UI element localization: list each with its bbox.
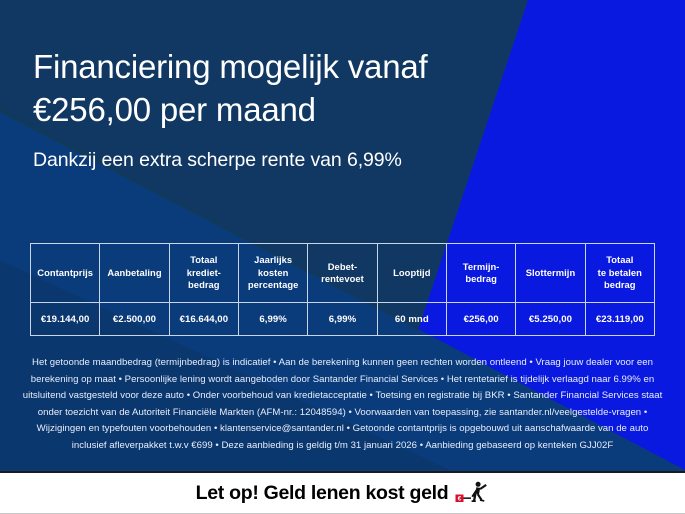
cell-looptijd: 60 mnd: [377, 303, 446, 336]
header-line-2: kosten: [241, 267, 305, 279]
header-line-1: Looptijd: [380, 267, 444, 279]
cell-aanbetaling: €2.500,00: [100, 303, 169, 336]
page-title: Financiering mogelijk vanaf €256,00 per …: [33, 46, 633, 131]
table-header-totaal-kredietbedrag: Totaal krediet- bedrag: [169, 244, 238, 303]
header-line-2: te betalen: [588, 267, 652, 279]
header-line-1: Termijn-: [449, 261, 513, 273]
header-line-3: percentage: [241, 279, 305, 291]
financing-details-table: Contantprijs Aanbetaling Totaal krediet-…: [30, 243, 655, 336]
svg-text:€: €: [458, 496, 462, 503]
financing-promo-banner: Financiering mogelijk vanaf €256,00 per …: [0, 0, 685, 514]
header-line-3: bedrag: [588, 279, 652, 291]
header-line-1: Totaal: [588, 254, 652, 266]
table-header-slottermijn: Slottermijn: [516, 244, 585, 303]
cell-jaarlijks-kosten-percentage: 6,99%: [238, 303, 307, 336]
warning-banner-label: Let op! Geld lenen kost geld: [196, 482, 449, 505]
cell-totaal-te-betalen-bedrag: €23.119,00: [585, 303, 654, 336]
table-header-looptijd: Looptijd: [377, 244, 446, 303]
warning-banner-inner: Let op! Geld lenen kost geld €: [196, 481, 490, 505]
table-header-totaal-te-betalen-bedrag: Totaal te betalen bedrag: [585, 244, 654, 303]
header-line-1: Totaal: [172, 254, 236, 266]
disclaimer-text: Het getoonde maandbedrag (termijnbedrag)…: [20, 355, 665, 454]
warning-banner: Let op! Geld lenen kost geld €: [0, 471, 685, 514]
header-line-2: bedrag: [449, 273, 513, 285]
walking-person-dragging-euro-block-icon: €: [455, 481, 489, 505]
header-line-2: rentevoet: [310, 273, 374, 285]
header-line-1: Slottermijn: [518, 267, 582, 279]
table-header-aanbetaling: Aanbetaling: [100, 244, 169, 303]
table-header-debetrentevoet: Debet- rentevoet: [308, 244, 377, 303]
header-line-1: Contantprijs: [33, 267, 97, 279]
table-header-jaarlijks-kosten-percentage: Jaarlijks kosten percentage: [238, 244, 307, 303]
cell-termijnbedrag: €256,00: [446, 303, 515, 336]
header-line-1: Aanbetaling: [102, 267, 166, 279]
cell-debetrentevoet: 6,99%: [308, 303, 377, 336]
cell-contantprijs: €19.144,00: [31, 303, 100, 336]
header-line-1: Debet-: [310, 261, 374, 273]
table-body: €19.144,00 €2.500,00 €16.644,00 6,99% 6,…: [31, 303, 655, 336]
table-row: €19.144,00 €2.500,00 €16.644,00 6,99% 6,…: [31, 303, 655, 336]
table-header-row: Contantprijs Aanbetaling Totaal krediet-…: [31, 244, 655, 303]
table-header-contantprijs: Contantprijs: [31, 244, 100, 303]
cell-totaal-kredietbedrag: €16.644,00: [169, 303, 238, 336]
table-header-row-group: Contantprijs Aanbetaling Totaal krediet-…: [31, 244, 655, 303]
header-line-2: krediet-: [172, 267, 236, 279]
content-layer: Financiering mogelijk vanaf €256,00 per …: [0, 0, 685, 514]
header-line-1: Jaarlijks: [241, 254, 305, 266]
subheadline: Dankzij een extra scherpe rente van 6,99…: [33, 148, 653, 173]
cell-slottermijn: €5.250,00: [516, 303, 585, 336]
header-line-3: bedrag: [172, 279, 236, 291]
table-header-termijnbedrag: Termijn- bedrag: [446, 244, 515, 303]
